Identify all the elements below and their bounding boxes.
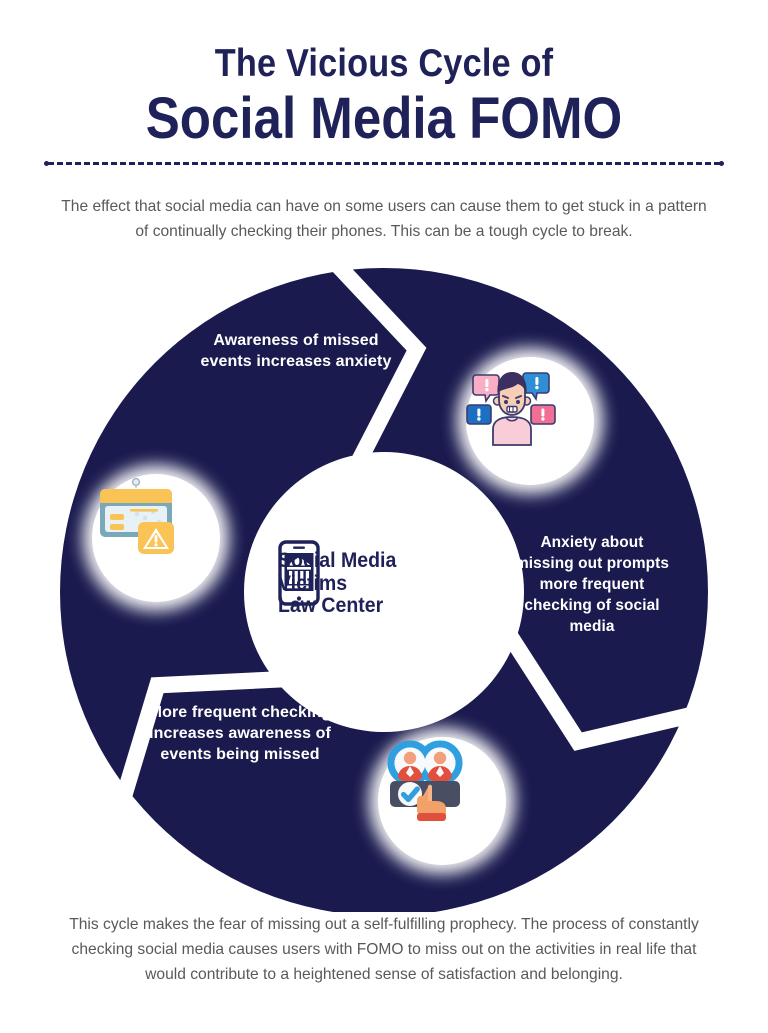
segment-label-awareness: Awareness of missed events increases anx…	[196, 330, 396, 372]
icon-bubble-anxiety	[466, 357, 594, 485]
segment-label-anxiety: Anxiety about missing out prompts more f…	[512, 532, 672, 637]
icon-bubble-browser-warning	[92, 474, 220, 602]
users-checkmark-tap-icon	[378, 737, 470, 829]
page-title-line1: The Vicious Cycle of	[46, 42, 722, 86]
logo-line-2: Victims	[278, 573, 396, 596]
anxious-person-alerts-icon	[466, 357, 558, 449]
center-logo: Social Media Victims Law Center	[278, 540, 493, 628]
page-title-line2: Social Media FOMO	[46, 88, 722, 150]
icon-bubble-social-approval	[378, 737, 506, 865]
header-divider-wrap	[0, 162, 768, 172]
infographic-page: The Vicious Cycle of Social Media FOMO T…	[0, 0, 768, 1033]
browser-window-warning-icon	[92, 474, 180, 562]
logo-line-1: Social Media	[278, 550, 396, 573]
intro-paragraph: The effect that social media can have on…	[54, 194, 714, 244]
footer-paragraph: This cycle makes the fear of missing out…	[52, 912, 716, 987]
logo-wordmark: Social Media Victims Law Center	[278, 550, 396, 618]
logo-line-3: Law Center	[278, 595, 396, 618]
segment-label-checking: More frequent checking increases awarene…	[134, 702, 346, 765]
page-header: The Vicious Cycle of Social Media FOMO T…	[0, 0, 768, 244]
cycle-diagram: Awareness of missed events increases anx…	[0, 252, 768, 912]
dashed-divider	[48, 162, 720, 165]
